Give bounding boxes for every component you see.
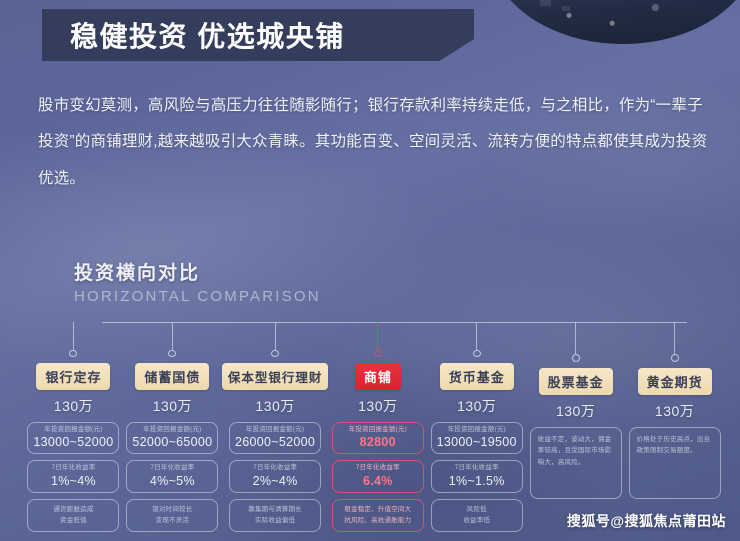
metric-box: 年投资回报金额(元)82800 [332,422,424,455]
chart-column: 银行定存130万年投资回报金额(元)13000~520007日年化收益率1%~4… [24,322,123,532]
metric-label: 年投资回报金额(元) [434,426,520,435]
metric-value: 13000~19500 [434,435,520,449]
connector-dot-icon [572,354,580,362]
section-heading: 投资横向对比 HORIZONTAL COMPARISON [74,258,321,305]
note-text: 价格处于历史高点，出台政策限制交易额度。 [637,434,713,457]
column-label-5[interactable]: 货币基金 [440,363,514,390]
connector-line [172,322,173,350]
principal-amount: 130万 [457,396,496,416]
chart-columns: 银行定存130万年投资回报金额(元)13000~520007日年化收益率1%~4… [24,322,724,532]
metric-label: 7日年化收益率 [335,464,421,473]
page-title: 稳健投资 优选城央铺 [70,15,345,55]
header-banner: 稳健投资 优选城央铺 [42,9,474,61]
intro-paragraph: 股市变幻莫测，高风险与高压力往往随影随行；银行存款利率持续走低，与之相比，作为“… [38,88,708,197]
note-text: 锁对时间较长变现不灵活 [131,505,213,526]
note-text: 租金稳定、升值空间大抗风险、高抗通胀能力 [337,505,419,526]
metric-value: 4%~5% [129,474,215,488]
metric-box-group: 年投资回报金额(元)26000~520007日年化收益率2%~4%募集期与清算期… [229,422,321,532]
column-label-7[interactable]: 黄金期货 [638,368,712,395]
metric-value: 26000~52000 [232,435,318,449]
connector-dot-icon [168,350,176,357]
principal-amount: 130万 [153,396,192,416]
chart-column: 股票基金130万收益不定，波动大，佣金率较高，且受国际市场影响大，高风险。 [526,322,625,532]
chart-column: 保本型银行理财130万年投资回报金额(元)26000~520007日年化收益率2… [222,322,329,532]
connector-line [275,322,276,350]
principal-amount: 130万 [655,401,694,421]
metric-box: 7日年化收益率1%~1.5% [431,460,523,493]
connector-line [575,322,576,354]
note-text: 收益不定，波动大，佣金率较高，且受国际市场影响大，高风险。 [538,434,614,468]
connector-dot-icon [671,354,679,362]
note-box: 租金稳定、升值空间大抗风险、高抗通胀能力 [332,499,424,532]
metric-box: 年投资回报金额(元)13000~52000 [27,422,119,455]
chart-column: 储蓄国债130万年投资回报金额(元)52000~650007日年化收益率4%~5… [123,322,222,532]
principal-amount: 130万 [255,396,294,416]
metric-value: 1%~4% [30,474,116,488]
note-text: 募集期与清算期长实际收益偏低 [234,505,316,526]
poster-page: 稳健投资 优选城央铺 股市变幻莫测，高风险与高压力往往随影随行；银行存款利率持续… [0,0,740,541]
column-label-3[interactable]: 保本型银行理财 [222,363,329,390]
column-label-4[interactable]: 商铺 [355,363,401,390]
metric-box: 7日年化收益率6.4% [332,460,424,493]
principal-amount: 130万 [54,396,93,416]
note-box: 锁对时间较长变现不灵活 [126,499,218,532]
metric-value: 13000~52000 [30,435,116,449]
metric-box: 7日年化收益率4%~5% [126,460,218,493]
chart-column: 商铺130万年投资回报金额(元)828007日年化收益率6.4%租金稳定、升值空… [328,322,427,532]
metric-label: 年投资回报金额(元) [129,426,215,435]
section-title-cn: 投资横向对比 [74,258,321,285]
watermark: 搜狐号@搜狐焦点莆田站 [567,511,726,531]
metric-box-group: 年投资回报金额(元)13000~195007日年化收益率1%~1.5%风险低收益… [431,422,523,532]
metric-label: 7日年化收益率 [30,464,116,473]
metric-label: 7日年化收益率 [434,464,520,473]
note-box: 募集期与清算期长实际收益偏低 [229,499,321,532]
metric-box: 年投资回报金额(元)26000~52000 [229,422,321,455]
metric-value: 6.4% [335,474,421,488]
note-text: 通货膨胀造成资金贬值 [32,505,114,526]
note-box: 收益不定，波动大，佣金率较高，且受国际市场影响大，高风险。 [530,427,622,499]
metric-label: 年投资回报金额(元) [335,426,421,435]
note-box: 价格处于历史高点，出台政策限制交易额度。 [629,427,721,499]
header-photo [488,0,740,44]
note-box: 风险低收益率低 [431,499,523,532]
column-label-6[interactable]: 股票基金 [539,368,613,395]
connector-dot-icon [69,350,77,357]
metric-label: 7日年化收益率 [232,464,318,473]
column-label-2[interactable]: 储蓄国债 [135,363,209,390]
connector-line [377,322,378,350]
metric-value: 52000~65000 [129,435,215,449]
chart-column: 黄金期货130万价格处于历史高点，出台政策限制交易额度。 [625,322,724,532]
metric-value: 1%~1.5% [434,474,520,488]
metric-box: 年投资回报金额(元)52000~65000 [126,422,218,455]
note-text: 风险低收益率低 [436,505,518,526]
connector-dot-icon [271,350,279,357]
metric-label: 年投资回报金额(元) [232,426,318,435]
metric-value: 2%~4% [232,474,318,488]
connector-dot-icon [374,350,382,357]
principal-amount: 130万 [556,401,595,421]
connector-line [674,322,675,354]
metric-label: 7日年化收益率 [129,464,215,473]
chart-column: 货币基金130万年投资回报金额(元)13000~195007日年化收益率1%~1… [427,322,526,532]
metric-box: 7日年化收益率2%~4% [229,460,321,493]
metric-box: 年投资回报金额(元)13000~19500 [431,422,523,455]
metric-value: 82800 [335,435,421,449]
metric-box-group: 收益不定，波动大，佣金率较高，且受国际市场影响大，高风险。 [530,427,622,499]
connector-line [73,322,74,350]
metric-box-group: 年投资回报金额(元)828007日年化收益率6.4%租金稳定、升值空间大抗风险、… [332,422,424,532]
connector-dot-icon [473,350,481,357]
principal-amount: 130万 [358,396,397,416]
column-label-1[interactable]: 银行定存 [36,363,110,390]
metric-label: 年投资回报金额(元) [30,426,116,435]
connector-line [476,322,477,350]
metric-box: 7日年化收益率1%~4% [27,460,119,493]
metric-box-group: 价格处于历史高点，出台政策限制交易额度。 [629,427,721,499]
metric-box-group: 年投资回报金额(元)52000~650007日年化收益率4%~5%锁对时间较长变… [126,422,218,532]
metric-box-group: 年投资回报金额(元)13000~520007日年化收益率1%~4%通货膨胀造成资… [27,422,119,532]
section-title-en: HORIZONTAL COMPARISON [74,288,321,305]
note-box: 通货膨胀造成资金贬值 [27,499,119,532]
comparison-chart: 银行定存130万年投资回报金额(元)13000~520007日年化收益率1%~4… [24,322,724,532]
